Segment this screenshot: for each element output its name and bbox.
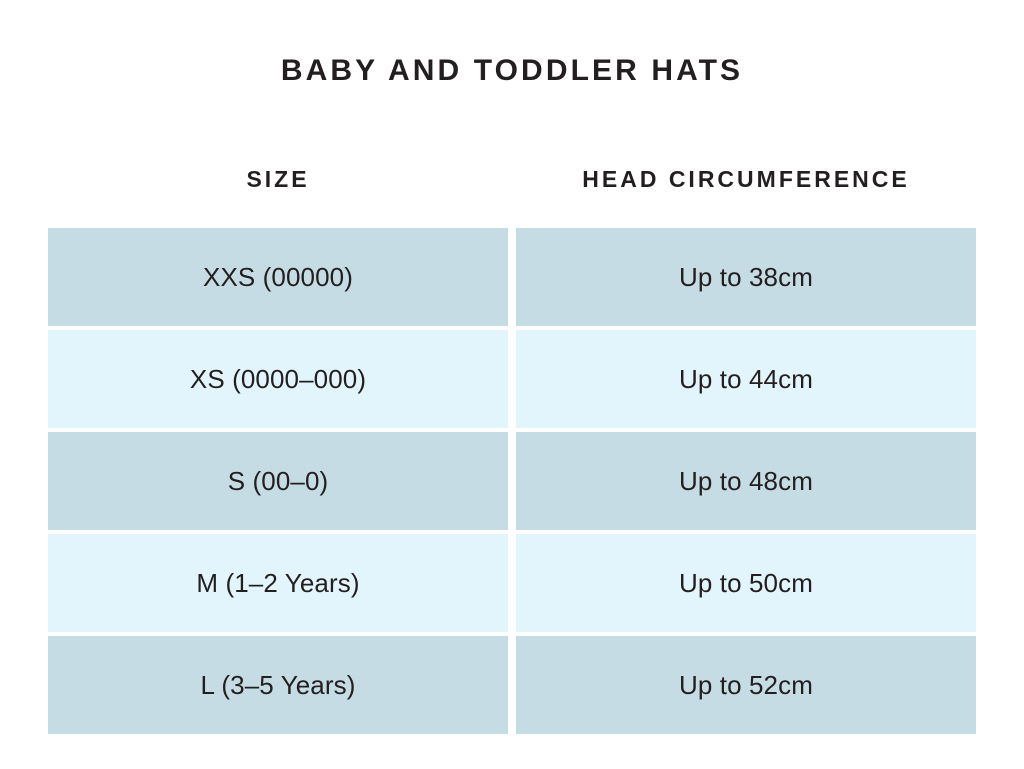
table-row: S (00–0) Up to 48cm xyxy=(48,432,976,530)
cell-size: XS (0000–000) xyxy=(48,330,508,428)
cell-size: M (1–2 Years) xyxy=(48,534,508,632)
table-row: XXS (00000) Up to 38cm xyxy=(48,228,976,326)
size-chart: BABY AND TODDLER HATS SIZE HEAD CIRCUMFE… xyxy=(0,0,1024,769)
column-header-head-circumference: HEAD CIRCUMFERENCE xyxy=(516,166,976,194)
cell-head-circumference: Up to 48cm xyxy=(516,432,976,530)
cell-head-circumference: Up to 38cm xyxy=(516,228,976,326)
table-row: L (3–5 Years) Up to 52cm xyxy=(48,636,976,734)
column-header-row: SIZE HEAD CIRCUMFERENCE xyxy=(48,166,976,194)
table-row: M (1–2 Years) Up to 50cm xyxy=(48,534,976,632)
size-table-body: XXS (00000) Up to 38cm XS (0000–000) Up … xyxy=(48,228,976,734)
page-title: BABY AND TODDLER HATS xyxy=(0,53,1024,89)
cell-head-circumference: Up to 50cm xyxy=(516,534,976,632)
cell-head-circumference: Up to 52cm xyxy=(516,636,976,734)
column-header-size: SIZE xyxy=(48,166,508,194)
cell-size: S (00–0) xyxy=(48,432,508,530)
cell-size: L (3–5 Years) xyxy=(48,636,508,734)
cell-head-circumference: Up to 44cm xyxy=(516,330,976,428)
table-row: XS (0000–000) Up to 44cm xyxy=(48,330,976,428)
cell-size: XXS (00000) xyxy=(48,228,508,326)
